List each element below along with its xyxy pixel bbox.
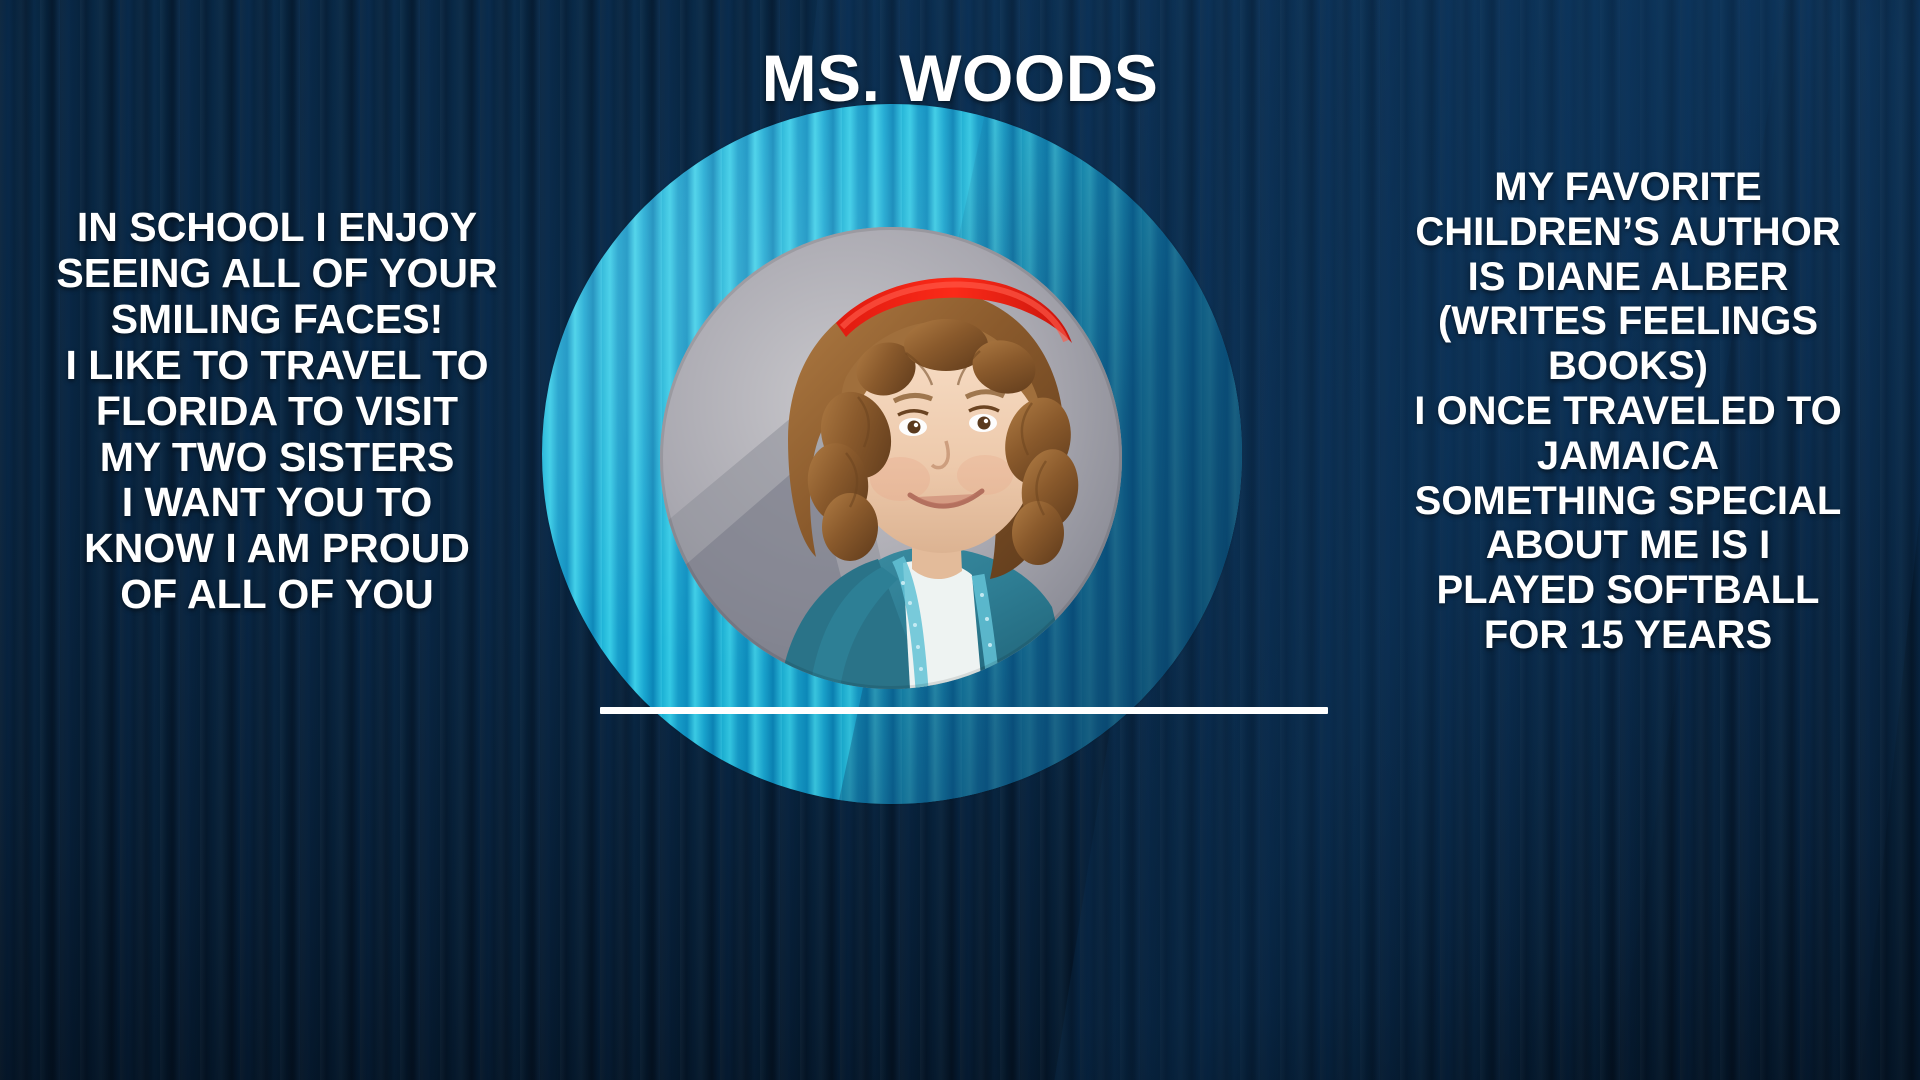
left-text-line: SMILING FACES! bbox=[22, 297, 532, 343]
right-text-line: (WRITES FEELINGS bbox=[1358, 299, 1898, 344]
right-text-line: JAMAICA bbox=[1358, 434, 1898, 479]
right-text-line: I ONCE TRAVELED TO bbox=[1358, 389, 1898, 434]
left-text-block: IN SCHOOL I ENJOY SEEING ALL OF YOUR SMI… bbox=[22, 205, 532, 618]
left-text-line: KNOW I AM PROUD bbox=[22, 526, 532, 572]
left-text-line: MY TWO SISTERS bbox=[22, 435, 532, 481]
left-text-line: SEEING ALL OF YOUR bbox=[22, 251, 532, 297]
slide-title: MS. WOODS bbox=[0, 40, 1920, 116]
right-text-line: PLAYED SOFTBALL bbox=[1358, 568, 1898, 613]
right-text-line: SOMETHING SPECIAL bbox=[1358, 479, 1898, 524]
presentation-slide: MS. WOODS IN SCHOOL I ENJOY SEEING ALL O… bbox=[0, 0, 1920, 1080]
right-text-line: MY FAVORITE bbox=[1358, 165, 1898, 210]
left-text-line: I WANT YOU TO bbox=[22, 480, 532, 526]
left-text-line: I LIKE TO TRAVEL TO bbox=[22, 343, 532, 389]
horizontal-divider-rule bbox=[600, 707, 1328, 714]
left-text-line: IN SCHOOL I ENJOY bbox=[22, 205, 532, 251]
teacher-photo bbox=[660, 227, 1122, 689]
right-text-block: MY FAVORITE CHILDREN’S AUTHOR IS DIANE A… bbox=[1358, 165, 1898, 658]
right-text-line: ABOUT ME IS I bbox=[1358, 523, 1898, 568]
left-text-line: FLORIDA TO VISIT bbox=[22, 389, 532, 435]
left-text-line: OF ALL OF YOU bbox=[22, 572, 532, 618]
right-text-line: BOOKS) bbox=[1358, 344, 1898, 389]
right-text-line: FOR 15 YEARS bbox=[1358, 613, 1898, 658]
right-text-line: IS DIANE ALBER bbox=[1358, 255, 1898, 300]
right-text-line: CHILDREN’S AUTHOR bbox=[1358, 210, 1898, 255]
